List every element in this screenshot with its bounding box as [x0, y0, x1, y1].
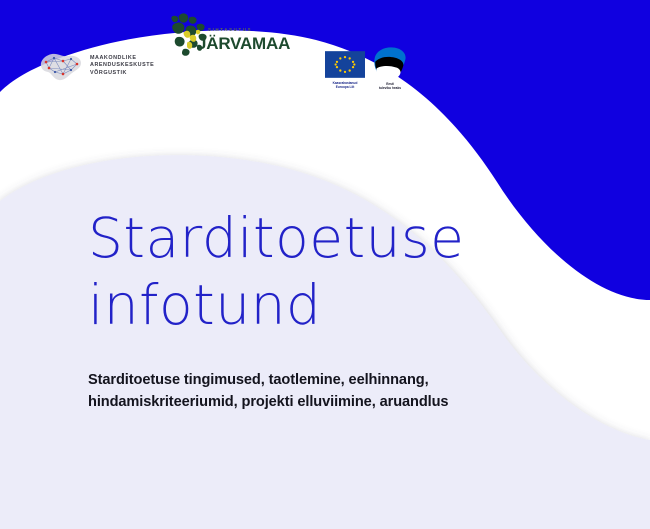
estonia-flag-icon	[372, 46, 408, 80]
eu-flag-icon	[325, 51, 365, 78]
logo-jarvamaa-name: JÄRVAMAA	[197, 34, 290, 54]
logo-estonia-caption: Eesti tuleviku heaks	[372, 82, 408, 91]
logo-mak-line-2: ARENDUSKESKUSTE	[90, 62, 154, 70]
logo-republic-of-estonia: Eesti tuleviku heaks	[372, 46, 408, 91]
slide-content: Starditoetuse infotund Starditoetuse tin…	[88, 205, 588, 413]
logo-mak-line-3: VÕRGUSTIK	[90, 70, 154, 78]
slide-title: Starditoetuse infotund	[88, 205, 588, 339]
network-map-icon	[38, 48, 84, 84]
logo-sihtasutus-jarvamaa: SIHTASUTUS JÄRVAMAA	[168, 11, 276, 57]
logo-jarvamaa-eyebrow: SIHTASUTUS	[208, 27, 252, 32]
logo-strip: MAAKONDLIKE ARENDUSKESKUSTE VÕRGUSTIK	[0, 0, 650, 105]
presentation-slide: MAAKONDLIKE ARENDUSKESKUSTE VÕRGUSTIK	[0, 0, 650, 529]
slide-subtitle: Starditoetuse tingimused, taotlemine, ee…	[88, 369, 540, 413]
logo-mak-wordmark: MAAKONDLIKE ARENDUSKESKUSTE VÕRGUSTIK	[90, 55, 154, 78]
logo-mak-line-1: MAAKONDLIKE	[90, 55, 154, 63]
logo-mak-network: MAAKONDLIKE ARENDUSKESKUSTE VÕRGUSTIK	[38, 48, 154, 84]
logo-estonia-caption-line-2: tuleviku heaks	[372, 86, 408, 90]
logo-european-union: Kaasrahastanud Euroopa Liit	[325, 51, 365, 90]
logo-eu-caption: Kaasrahastanud Euroopa Liit	[325, 81, 365, 90]
logo-eu-caption-line-2: Euroopa Liit	[325, 85, 365, 89]
